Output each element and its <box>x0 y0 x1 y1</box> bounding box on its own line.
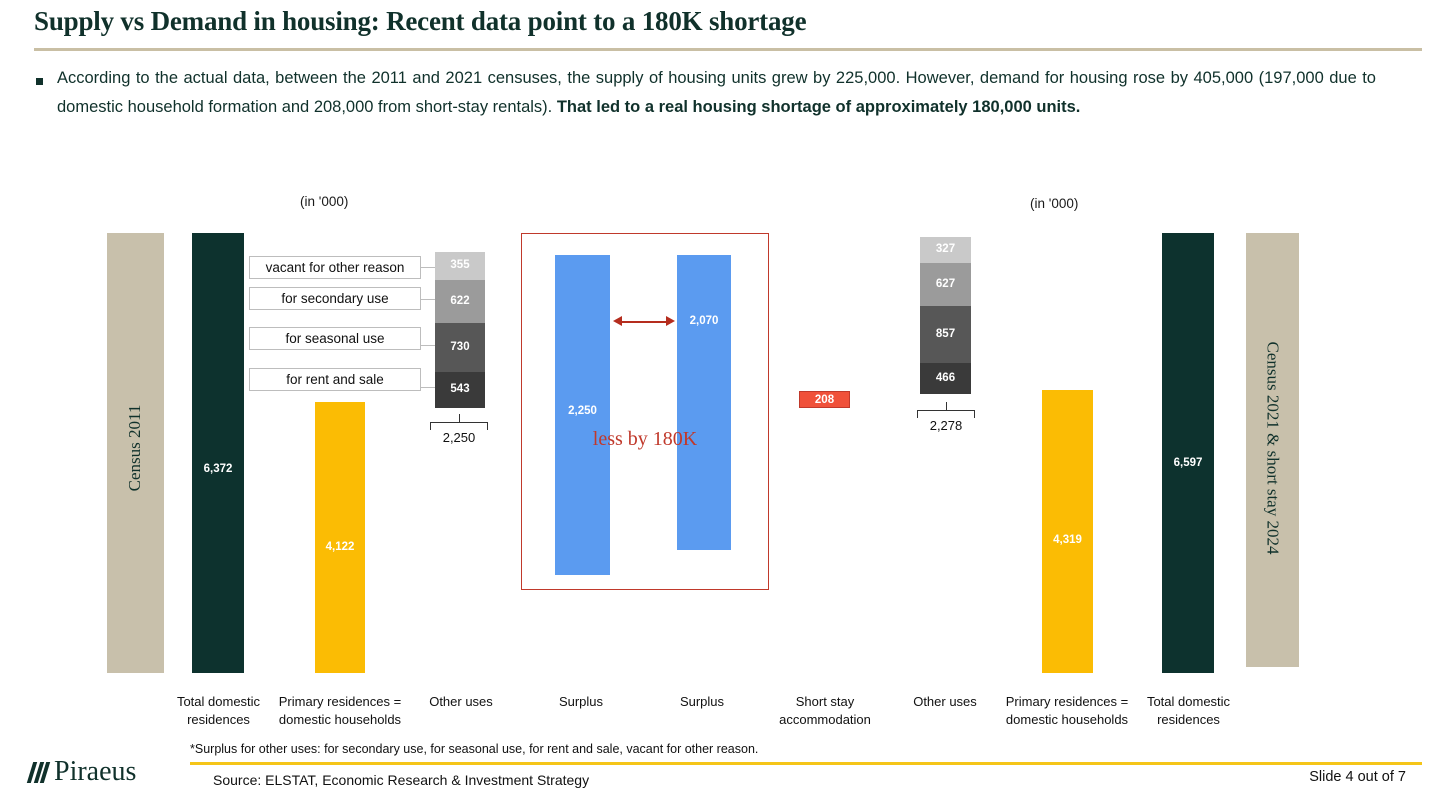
stack-value-543: 543 <box>435 383 485 395</box>
panel-band-census-2011-label: Census 2011 <box>125 368 145 528</box>
bullet-paragraph: According to the actual data, between th… <box>36 64 1376 122</box>
bar-value-208: 208 <box>815 394 834 406</box>
page-title: Supply vs Demand in housing: Recent data… <box>34 6 1424 37</box>
cat-label-total-domestic-residences-2011: Total domestic residences <box>160 693 277 729</box>
stack-segment-2021-327: 327 <box>920 237 971 263</box>
title-divider <box>34 48 1422 51</box>
arrow-head-right-icon <box>666 316 675 326</box>
leader-line-secondary <box>421 299 435 300</box>
callout-label-rent-sale: for rent and sale <box>286 372 384 387</box>
panel-band-census-2021: Census 2021 & short stay 2024 <box>1246 233 1299 667</box>
stack-value-857: 857 <box>920 328 971 340</box>
stacked-bar-other-uses-2011: 355 622 730 543 <box>435 252 485 408</box>
focus-caption-less-by-180k: less by 180K <box>521 428 769 451</box>
cat-label-total-domestic-residences-2021: Total domestic residences <box>1130 693 1247 729</box>
bar-value-4122: 4,122 <box>315 541 365 553</box>
brace-other-uses-2021: 2,278 <box>917 402 975 434</box>
bar-surplus-2011: 2,250 <box>555 255 610 575</box>
slide-number: Slide 4 out of 7 <box>1309 769 1406 785</box>
cat-label-other-uses-2021: Other uses <box>889 693 1001 711</box>
cat-label-surplus-2011: Surplus <box>525 693 637 711</box>
bar-total-domestic-residences-2011: 6,372 <box>192 233 244 673</box>
callout-vacant-for-other-reason: vacant for other reason <box>249 256 421 279</box>
brace-other-uses-2011: 2,250 <box>430 414 488 446</box>
stack-segment-vacant-other-reason: 355 <box>435 252 485 280</box>
footnote: *Surplus for other uses: for secondary u… <box>190 742 758 756</box>
bar-value-4319: 4,319 <box>1042 534 1093 546</box>
source-line: Source: ELSTAT, Economic Research & Inve… <box>213 772 589 788</box>
arrow-head-left-icon <box>613 316 622 326</box>
callout-for-rent-and-sale: for rent and sale <box>249 368 421 391</box>
callout-for-secondary-use: for secondary use <box>249 287 421 310</box>
units-label-left: (in '000) <box>300 194 348 209</box>
footer-divider <box>190 762 1422 765</box>
callout-label-vacant: vacant for other reason <box>266 260 405 275</box>
brace-right-end-right <box>974 410 975 418</box>
stacked-bar-other-uses-2021: 327 627 857 466 <box>920 237 971 394</box>
bullet-text-bold: That led to a real housing shortage of a… <box>557 98 1081 116</box>
stack-segment-2021-857: 857 <box>920 306 971 363</box>
callout-label-secondary: for secondary use <box>281 291 388 306</box>
bar-value-2070: 2,070 <box>677 315 731 327</box>
piraeus-logo: Piraeus <box>30 758 136 786</box>
bar-short-stay-accommodation: 208 <box>799 391 850 408</box>
panel-band-census-2011: Census 2011 <box>107 233 164 673</box>
leader-line-seasonal <box>421 345 435 346</box>
bar-value-2250: 2,250 <box>555 405 610 417</box>
brace-left-end <box>430 422 431 430</box>
stack-value-622: 622 <box>435 295 485 307</box>
cat-label-surplus-2024: Surplus <box>646 693 758 711</box>
stack-value-327: 327 <box>920 243 971 255</box>
brace-hline <box>430 422 488 423</box>
chart-canvas: (in '000) (in '000) Census 2011 6,372 4,… <box>0 180 1456 740</box>
stack-segment-secondary-use: 622 <box>435 280 485 323</box>
bar-total-domestic-residences-2021: 6,597 <box>1162 233 1214 673</box>
stack-value-466: 466 <box>920 372 971 384</box>
cat-label-primary-residences-2011: Primary residences = domestic households <box>265 693 415 729</box>
stack-value-627: 627 <box>920 278 971 290</box>
brace-hline-right <box>917 410 975 411</box>
bar-value-6597: 6,597 <box>1162 457 1214 469</box>
callout-for-seasonal-use: for seasonal use <box>249 327 421 350</box>
bar-primary-residences-2011: 4,122 <box>315 402 365 673</box>
stack-segment-2021-627: 627 <box>920 263 971 306</box>
stack-segment-seasonal-use: 730 <box>435 323 485 372</box>
logo-wordmark: Piraeus <box>54 758 136 786</box>
leader-line-vacant <box>421 267 435 268</box>
brace-right-end <box>487 422 488 430</box>
slashes-icon <box>30 762 47 783</box>
panel-band-census-2021-label: Census 2021 & short stay 2024 <box>1263 322 1283 575</box>
cat-label-other-uses-2011: Other uses <box>405 693 517 711</box>
shortage-arrow <box>613 314 675 328</box>
stack-value-730: 730 <box>435 341 485 353</box>
brace-left-end-right <box>917 410 918 418</box>
bar-surplus-2024: 2,070 <box>677 255 731 550</box>
units-label-right: (in '000) <box>1030 196 1078 211</box>
cat-label-primary-residences-2021: Primary residences = domestic households <box>992 693 1142 729</box>
cat-label-short-stay-accommodation: Short stay accommodation <box>763 693 887 729</box>
bullet-text: According to the actual data, between th… <box>57 64 1376 122</box>
brace-value-2278: 2,278 <box>917 418 975 433</box>
brace-value-2250: 2,250 <box>430 430 488 445</box>
stack-value-355: 355 <box>435 259 485 271</box>
callout-label-seasonal: for seasonal use <box>285 331 384 346</box>
bar-value-6372: 6,372 <box>192 463 244 475</box>
arrow-line <box>621 321 667 323</box>
bullet-marker-icon <box>36 78 43 85</box>
bar-primary-residences-2021: 4,319 <box>1042 390 1093 673</box>
leader-line-rent-sale <box>421 387 435 388</box>
stack-segment-rent-and-sale: 543 <box>435 372 485 408</box>
stack-segment-2021-466: 466 <box>920 363 971 394</box>
